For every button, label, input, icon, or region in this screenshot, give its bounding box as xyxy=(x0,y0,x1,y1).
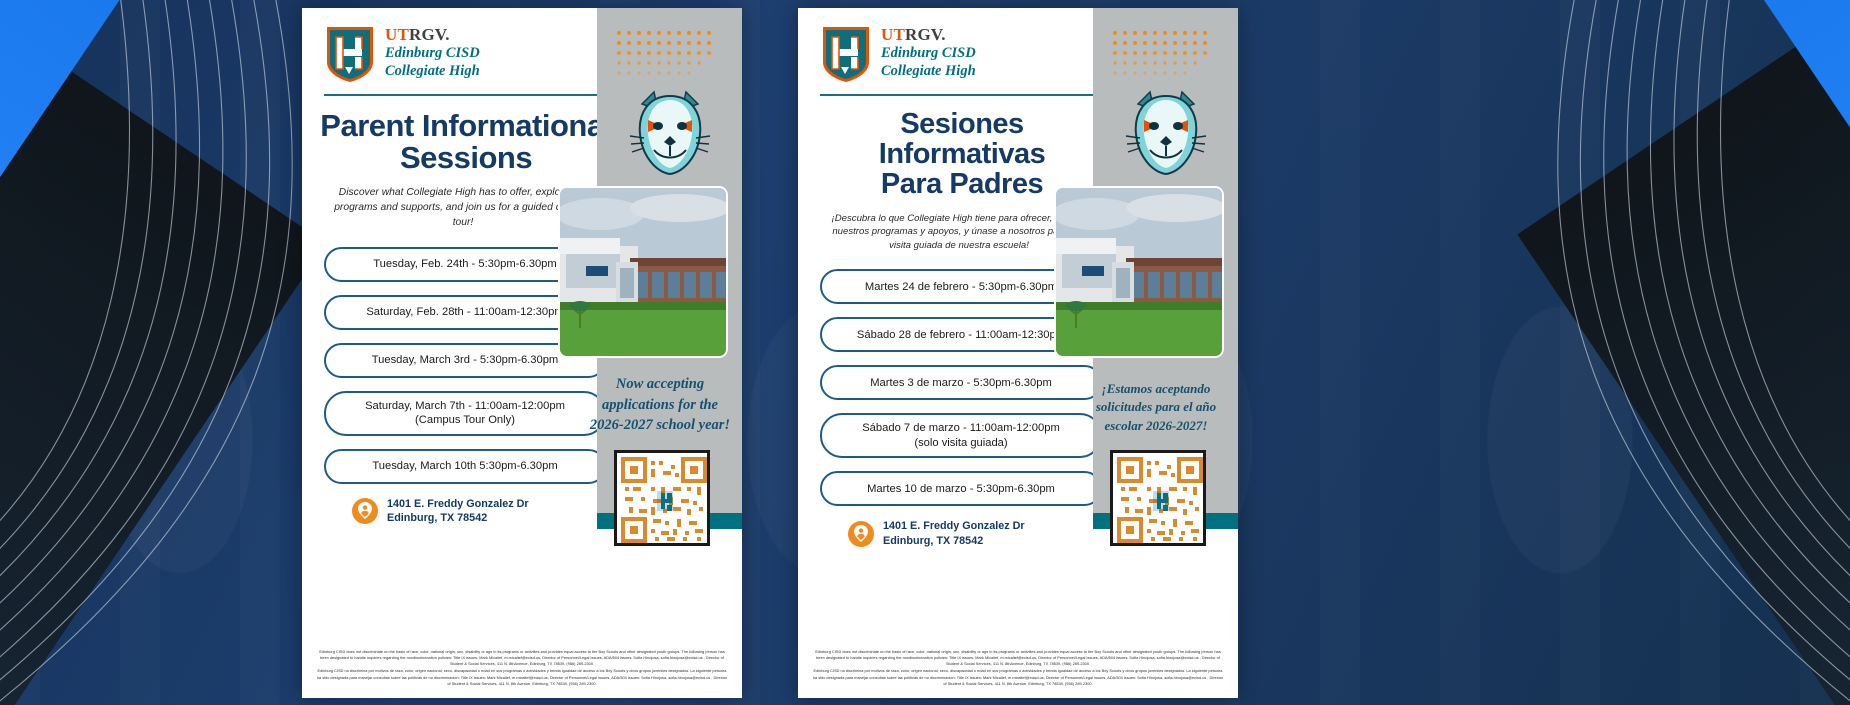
orange-dot-grid-decoration xyxy=(1112,30,1212,80)
page-title: Parent Informational Sessions xyxy=(320,110,612,174)
qr-code-icon[interactable] xyxy=(1110,450,1206,546)
address-line-2: Edinburg, TX 78542 xyxy=(883,534,1025,548)
utrgv-rgv-text: RGV. xyxy=(905,25,946,44)
address-text: 1401 E. Freddy Gonzalez Dr Edinburg, TX … xyxy=(387,497,529,526)
legal-disclaimer: Edinburg CISD does not discriminate on t… xyxy=(798,641,1238,698)
session-item[interactable]: Saturday, March 7th - 11:00am-12:00pm(Ca… xyxy=(324,391,606,436)
location-pin-icon xyxy=(848,521,874,547)
session-note: (Campus Tour Only) xyxy=(415,414,515,426)
session-item[interactable]: Tuesday, March 10th 5:30pm-6.30pm xyxy=(324,449,606,484)
session-item[interactable]: Martes 10 de marzo - 5:30pm-6.30pm xyxy=(820,471,1102,506)
utrgv-shield-logo-icon xyxy=(820,24,872,84)
utrgv-ut-text: UT xyxy=(385,25,409,44)
session-main: Sábado 7 de marzo - 11:00am-12:00pm xyxy=(862,422,1060,434)
session-text: Tuesday, Feb. 24th - 5:30pm-6.30pm xyxy=(373,257,556,272)
session-item[interactable]: Martes 3 de marzo - 5:30pm-6.30pm xyxy=(820,365,1102,400)
brand-line-2: Collegiate High xyxy=(385,63,480,81)
flyer-spanish: UTRGV. Edinburg CISD Collegiate High Ses… xyxy=(798,8,1238,698)
flyer-english: UTRGV. Edinburg CISD Collegiate High Par… xyxy=(302,8,742,698)
brand-header: UTRGV. Edinburg CISD Collegiate High xyxy=(302,8,602,84)
address-text: 1401 E. Freddy Gonzalez Dr Edinburg, TX … xyxy=(883,519,1025,548)
utrgv-wordmark: UTRGV. xyxy=(385,26,480,43)
utrgv-shield-logo-icon xyxy=(324,24,376,84)
address-line-1: 1401 E. Freddy Gonzalez Dr xyxy=(387,497,529,511)
utrgv-rgv-text: RGV. xyxy=(409,25,450,44)
session-text: Sábado 28 de febrero - 11:00am-12:30pm xyxy=(857,328,1065,343)
header-divider xyxy=(820,94,1098,96)
utrgv-ut-text: UT xyxy=(881,25,905,44)
brand-line-1: Edinburg CISD xyxy=(881,45,976,63)
campus-photo xyxy=(1054,186,1224,358)
application-callout: ¡Estamos aceptando solicitudes para el a… xyxy=(1082,380,1230,435)
session-item[interactable]: Sábado 7 de marzo - 11:00am-12:00pm(solo… xyxy=(820,413,1102,458)
qr-code-icon[interactable] xyxy=(614,450,710,546)
orange-dot-grid-decoration xyxy=(616,30,716,80)
legal-text-spanish: Edinburg CISD no discrimina por motivos … xyxy=(812,668,1224,687)
title-line-1: Sesiones Informativas xyxy=(816,110,1108,170)
campus-photo xyxy=(558,186,728,358)
brand-line-2: Collegiate High xyxy=(881,63,976,81)
brand-wordmark: UTRGV. Edinburg CISD Collegiate High xyxy=(881,24,976,80)
session-main: Saturday, March 7th - 11:00am-12:00pm xyxy=(365,400,565,412)
bobcat-mascot-icon xyxy=(1124,86,1208,178)
session-text: Martes 24 de febrero - 5:30pm-6.30pm xyxy=(865,280,1057,295)
utrgv-wordmark: UTRGV. xyxy=(881,26,976,43)
legal-disclaimer: Edinburg CISD does not discriminate on t… xyxy=(302,641,742,698)
header-divider xyxy=(324,94,602,96)
session-text: Sábado 7 de marzo - 11:00am-12:00pm(solo… xyxy=(862,421,1060,450)
bobcat-mascot-icon xyxy=(628,86,712,178)
flyer-body: UTRGV. Edinburg CISD Collegiate High Ses… xyxy=(798,8,1238,641)
legal-text-spanish: Edinburg CISD no discrimina por motivos … xyxy=(316,668,728,687)
session-text: Saturday, March 7th - 11:00am-12:00pm(Ca… xyxy=(365,399,565,428)
brand-wordmark: UTRGV. Edinburg CISD Collegiate High xyxy=(385,24,480,80)
location-pin-icon xyxy=(352,498,378,524)
brand-header: UTRGV. Edinburg CISD Collegiate High xyxy=(798,8,1098,84)
session-text: Martes 3 de marzo - 5:30pm-6.30pm xyxy=(870,376,1052,391)
address-line-2: Edinburg, TX 78542 xyxy=(387,511,529,525)
brand-line-1: Edinburg CISD xyxy=(385,45,480,63)
session-text: Tuesday, March 10th 5:30pm-6.30pm xyxy=(372,459,557,474)
address-line-1: 1401 E. Freddy Gonzalez Dr xyxy=(883,519,1025,533)
legal-text-english: Edinburg CISD does not discriminate on t… xyxy=(316,649,728,668)
session-text: Tuesday, March 3rd - 5:30pm-6.30pm xyxy=(372,353,559,368)
brand-subtitle: Edinburg CISD Collegiate High xyxy=(385,45,480,80)
legal-text-english: Edinburg CISD does not discriminate on t… xyxy=(812,649,1224,668)
title-line-2: Sessions xyxy=(320,142,612,174)
session-note: (solo visita guiada) xyxy=(914,437,1007,449)
application-callout: Now accepting applications for the 2026-… xyxy=(586,374,734,436)
session-text: Saturday, Feb. 28th - 11:00am-12:30pm xyxy=(366,305,563,320)
flyer-body: UTRGV. Edinburg CISD Collegiate High Par… xyxy=(302,8,742,641)
title-line-1: Parent Informational xyxy=(320,110,612,142)
session-text: Martes 10 de marzo - 5:30pm-6.30pm xyxy=(867,482,1055,497)
brand-subtitle: Edinburg CISD Collegiate High xyxy=(881,45,976,80)
